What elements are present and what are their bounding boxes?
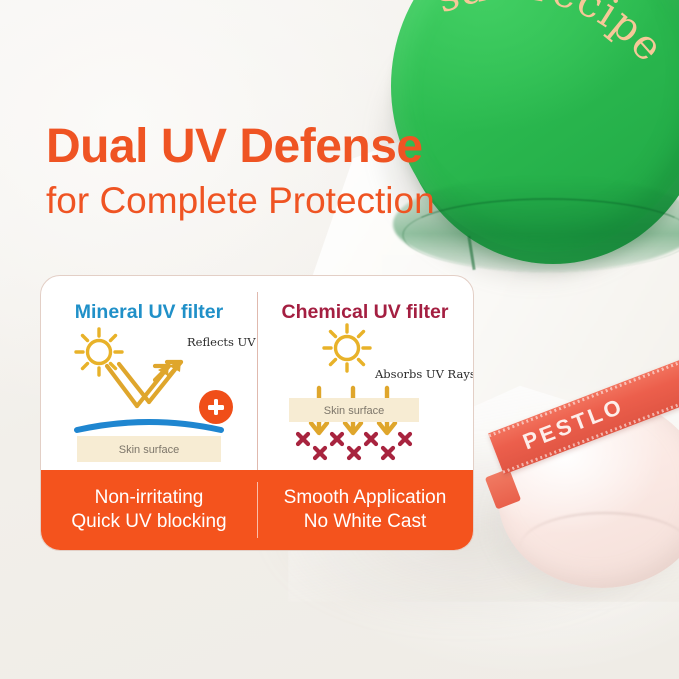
- benefit-chemical: Smooth Application No White Cast: [257, 470, 473, 550]
- reflect-arrows: [107, 362, 181, 406]
- column-chemical: Chemical UV filter: [257, 276, 473, 472]
- x-mark: [298, 434, 308, 444]
- benefit-chemical-line-2: No White Cast: [304, 511, 426, 532]
- x-mark: [400, 434, 410, 444]
- headline: Dual UV Defense for Complete Protection: [46, 122, 516, 221]
- benefit-chemical-line-1: Smooth Application: [284, 487, 447, 508]
- headline-line-1: Dual UV Defense: [46, 122, 516, 173]
- sun-icon: [324, 325, 370, 371]
- benefit-mineral-line-1: Non-irritating: [95, 487, 204, 508]
- sun-icon: [76, 329, 122, 375]
- x-mark: [315, 448, 325, 458]
- benefit-mineral: Non-irritating Quick UV blocking: [41, 470, 257, 550]
- plus-icon: [199, 390, 233, 424]
- reflect-rays-label: Reflects UV Rays: [187, 335, 257, 349]
- x-mark: [332, 434, 342, 444]
- puff-crease: [520, 512, 679, 582]
- absorb-rays-label: Absorbs UV Rays: [374, 367, 473, 381]
- illustration-chemical: Skin surface Absorbs UV Rays: [257, 320, 473, 470]
- skin-surface-label: Skin surface: [119, 444, 180, 456]
- footer-divider: [257, 482, 258, 538]
- x-mark: [366, 434, 376, 444]
- x-marks: [298, 434, 410, 458]
- column-mineral: Mineral UV filter: [41, 276, 257, 472]
- comparison-card-top: Mineral UV filter: [41, 276, 473, 472]
- comparison-card: Mineral UV filter: [40, 275, 474, 551]
- x-mark: [383, 448, 393, 458]
- skin-surface-label: Skin surface: [324, 405, 385, 417]
- mineral-barrier-arc: [77, 422, 221, 430]
- compact-brand-text: saferecipe: [429, 0, 674, 71]
- promo-image: saferecipe PESTLO Dual UV Defense for Co…: [0, 0, 679, 679]
- x-mark: [349, 448, 359, 458]
- comparison-card-footer: Non-irritating Quick UV blocking Smooth …: [41, 470, 473, 550]
- headline-line-2: for Complete Protection: [46, 180, 516, 221]
- benefit-mineral-line-2: Quick UV blocking: [71, 511, 226, 532]
